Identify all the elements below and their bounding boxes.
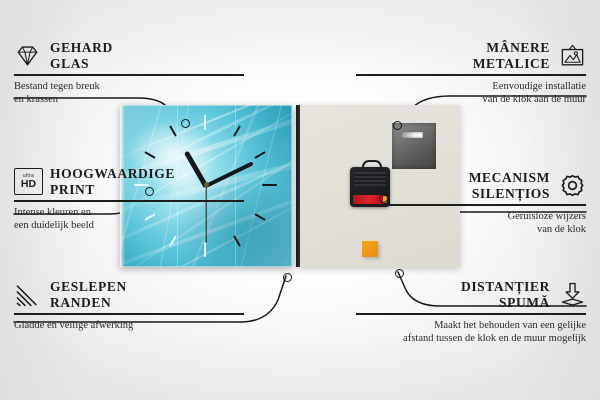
hanger-slot: [401, 132, 423, 138]
tick-12: [204, 115, 206, 130]
feature-desc-line2: en krassen: [14, 93, 244, 106]
ultra-hd-large-text: HD: [21, 179, 36, 190]
tick-6: [204, 242, 206, 257]
feature-rule: [356, 313, 586, 315]
feature-header: GEHARD GLAS: [14, 40, 244, 71]
feature-desc-line2: van de klok aan de muur: [356, 93, 586, 106]
feature-rule: [14, 200, 244, 202]
feature-header: DISTANȚIER SPUMĂ: [356, 279, 586, 310]
feature-desc-line1: Intense kleuren en: [14, 206, 244, 219]
picture-hanger-icon: [559, 42, 586, 69]
callout-dot-gehard-glas: [181, 119, 190, 128]
feature-rule: [356, 204, 586, 206]
feature-gehard-glas: GEHARD GLAS Bestand tegen breuk en krass…: [14, 40, 244, 106]
feature-description: Geruisloze wijzers van de klok: [356, 210, 586, 236]
feature-title-line2: SILENȚIOS: [469, 186, 550, 202]
foam-spacer: [362, 241, 378, 257]
feature-desc-line1: Gladde en veilige afwerking: [14, 319, 244, 332]
feature-title-line2: SPUMĂ: [461, 295, 550, 311]
feature-title-line1: DISTANȚIER: [461, 279, 550, 295]
feature-title: MÂNERE METALICE: [473, 40, 550, 71]
feature-description: Eenvoudige installatie van de klok aan d…: [356, 80, 586, 106]
feature-header: GESLEPEN RANDEN: [14, 279, 244, 310]
feature-title-line1: MÂNERE: [473, 40, 550, 56]
feature-title-line1: GESLEPEN: [50, 279, 127, 295]
feature-title: DISTANȚIER SPUMĂ: [461, 279, 550, 310]
metal-wall-hanger-plate: [392, 123, 436, 169]
beveled-edges-icon: [14, 281, 41, 308]
feature-rule: [14, 74, 244, 76]
feature-description: Bestand tegen breuk en krassen: [14, 80, 244, 106]
feature-title: HOOGWAARDIGE PRINT: [50, 166, 175, 197]
feature-description: Maakt het behouden van een gelijke afsta…: [356, 319, 586, 345]
feature-desc-line2: afstand tussen de klok en de muur mogeli…: [356, 332, 586, 345]
feature-desc-line1: Geruisloze wijzers: [356, 210, 586, 223]
feature-description: Gladde en veilige afwerking: [14, 319, 244, 332]
feature-header: ultra HD HOOGWAARDIGE PRINT: [14, 166, 244, 197]
feature-geslepen-randen: GESLEPEN RANDEN Gladde en veilige afwerk…: [14, 279, 244, 332]
infographic-canvas: GEHARD GLAS Bestand tegen breuk en krass…: [0, 0, 600, 400]
feature-title-line2: METALICE: [473, 56, 550, 72]
feature-desc-line1: Eenvoudige installatie: [356, 80, 586, 93]
feature-manere-metalice: MÂNERE METALICE Eenvoudige installatie v…: [356, 40, 586, 106]
feature-desc-line2: een duidelijk beeld: [14, 219, 244, 232]
callout-dot-manere-metalice: [393, 121, 402, 130]
feature-header: MECANISM SILENȚIOS: [356, 170, 586, 201]
feature-title-line1: GEHARD: [50, 40, 113, 56]
feature-title-line2: RANDEN: [50, 295, 127, 311]
feature-distantier-spuma: DISTANȚIER SPUMĂ Maakt het behouden van …: [356, 279, 586, 345]
feature-header: MÂNERE METALICE: [356, 40, 586, 71]
foam-spacer-icon: [559, 281, 586, 308]
feature-title-line2: GLAS: [50, 56, 113, 72]
feature-hoogwaardige-print: ultra HD HOOGWAARDIGE PRINT Intense kleu…: [14, 166, 244, 232]
ultra-hd-icon: ultra HD: [14, 168, 41, 195]
feature-title-line1: MECANISM: [469, 170, 550, 186]
feature-description: Intense kleuren en een duidelijk beeld: [14, 206, 244, 232]
feature-title: MECANISM SILENȚIOS: [469, 170, 550, 201]
feature-desc-line1: Maakt het behouden van een gelijke: [356, 319, 586, 332]
tick-3: [262, 184, 277, 186]
feature-title-line1: HOOGWAARDIGE: [50, 166, 175, 182]
callout-dot-geslepen-randen: [283, 273, 292, 282]
feature-title: GESLEPEN RANDEN: [50, 279, 127, 310]
feature-rule: [356, 74, 586, 76]
callout-dot-distantier: [395, 269, 404, 278]
feature-title-line2: PRINT: [50, 182, 175, 198]
feature-desc-line1: Bestand tegen breuk: [14, 80, 244, 93]
feature-desc-line2: van de klok: [356, 223, 586, 236]
feature-title: GEHARD GLAS: [50, 40, 113, 71]
diamond-icon: [14, 42, 41, 69]
gear-icon: [559, 172, 586, 199]
feature-rule: [14, 313, 244, 315]
feature-mecanism-silentios: MECANISM SILENȚIOS Geruisloze wijzers va…: [356, 170, 586, 236]
